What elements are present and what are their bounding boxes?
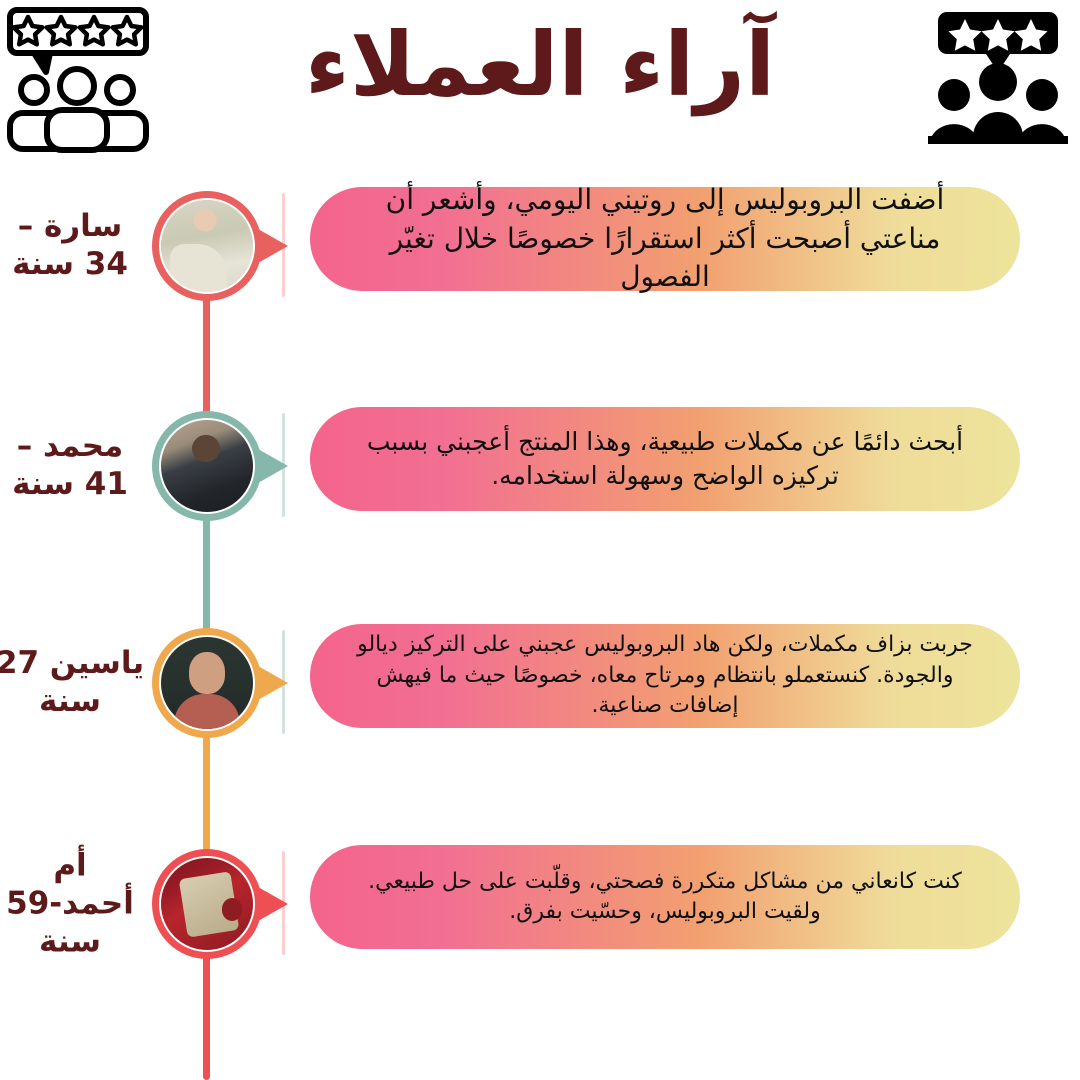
header: آراء العملاء xyxy=(0,0,1080,175)
avatar[interactable] xyxy=(152,411,262,521)
page-title: آراء العملاء xyxy=(0,14,1080,115)
testimonial-name: محمد – 41 سنة xyxy=(0,428,145,504)
testimonial-quote: أبحث دائمًا عن مكملات طبيعية، وهذا المنت… xyxy=(344,425,986,494)
testimonial-row[interactable]: ياسين 27 سنة جربت بزاف مكملات، ولكن هاد … xyxy=(0,624,1080,742)
testimonial-bubble: جربت بزاف مكملات، ولكن هاد البروبوليس عج… xyxy=(310,624,1020,728)
testimonial-name: أم أحمد-59 سنة xyxy=(0,847,145,960)
testimonial-bubble: كنت كانعاني من مشاكل متكررة فصحتي، وقلّب… xyxy=(310,845,1020,949)
testimonial-quote: كنت كانعاني من مشاكل متكررة فصحتي، وقلّب… xyxy=(344,867,986,928)
three-star-review-speech-bubble-people-solid-icon xyxy=(924,6,1072,154)
testimonial-quote: أضفت البروبوليس إلى روتيني اليومي، وأشعر… xyxy=(344,181,986,297)
testimonial-row[interactable]: محمد – 41 سنة أبحث دائمًا عن مكملات طبيع… xyxy=(0,407,1080,525)
testimonial-row[interactable]: أم أحمد-59 سنة كنت كانعاني من مشاكل متكر… xyxy=(0,845,1080,963)
testimonial-quote: جربت بزاف مكملات، ولكن هاد البروبوليس عج… xyxy=(344,630,986,721)
bubble-pointer-icon xyxy=(258,449,288,483)
avatar[interactable] xyxy=(152,628,262,738)
avatar[interactable] xyxy=(152,191,262,301)
avatar[interactable] xyxy=(152,849,262,959)
testimonial-name: سارة – 34 سنة xyxy=(0,208,145,284)
avatar-image xyxy=(161,200,253,292)
avatar-image xyxy=(161,637,253,729)
avatar-image xyxy=(161,858,253,950)
avatar-image xyxy=(161,420,253,512)
bubble-pointer-icon xyxy=(258,229,288,263)
testimonial-name: ياسين 27 سنة xyxy=(0,645,145,721)
bubble-pointer-icon xyxy=(258,887,288,921)
testimonial-bubble: أبحث دائمًا عن مكملات طبيعية، وهذا المنت… xyxy=(310,407,1020,511)
bubble-pointer-icon xyxy=(258,666,288,700)
testimonial-bubble: أضفت البروبوليس إلى روتيني اليومي، وأشعر… xyxy=(310,187,1020,291)
testimonial-row[interactable]: سارة – 34 سنة أضفت البروبوليس إلى روتيني… xyxy=(0,187,1080,305)
testimonial-timeline: سارة – 34 سنة أضفت البروبوليس إلى روتيني… xyxy=(0,175,1080,1080)
